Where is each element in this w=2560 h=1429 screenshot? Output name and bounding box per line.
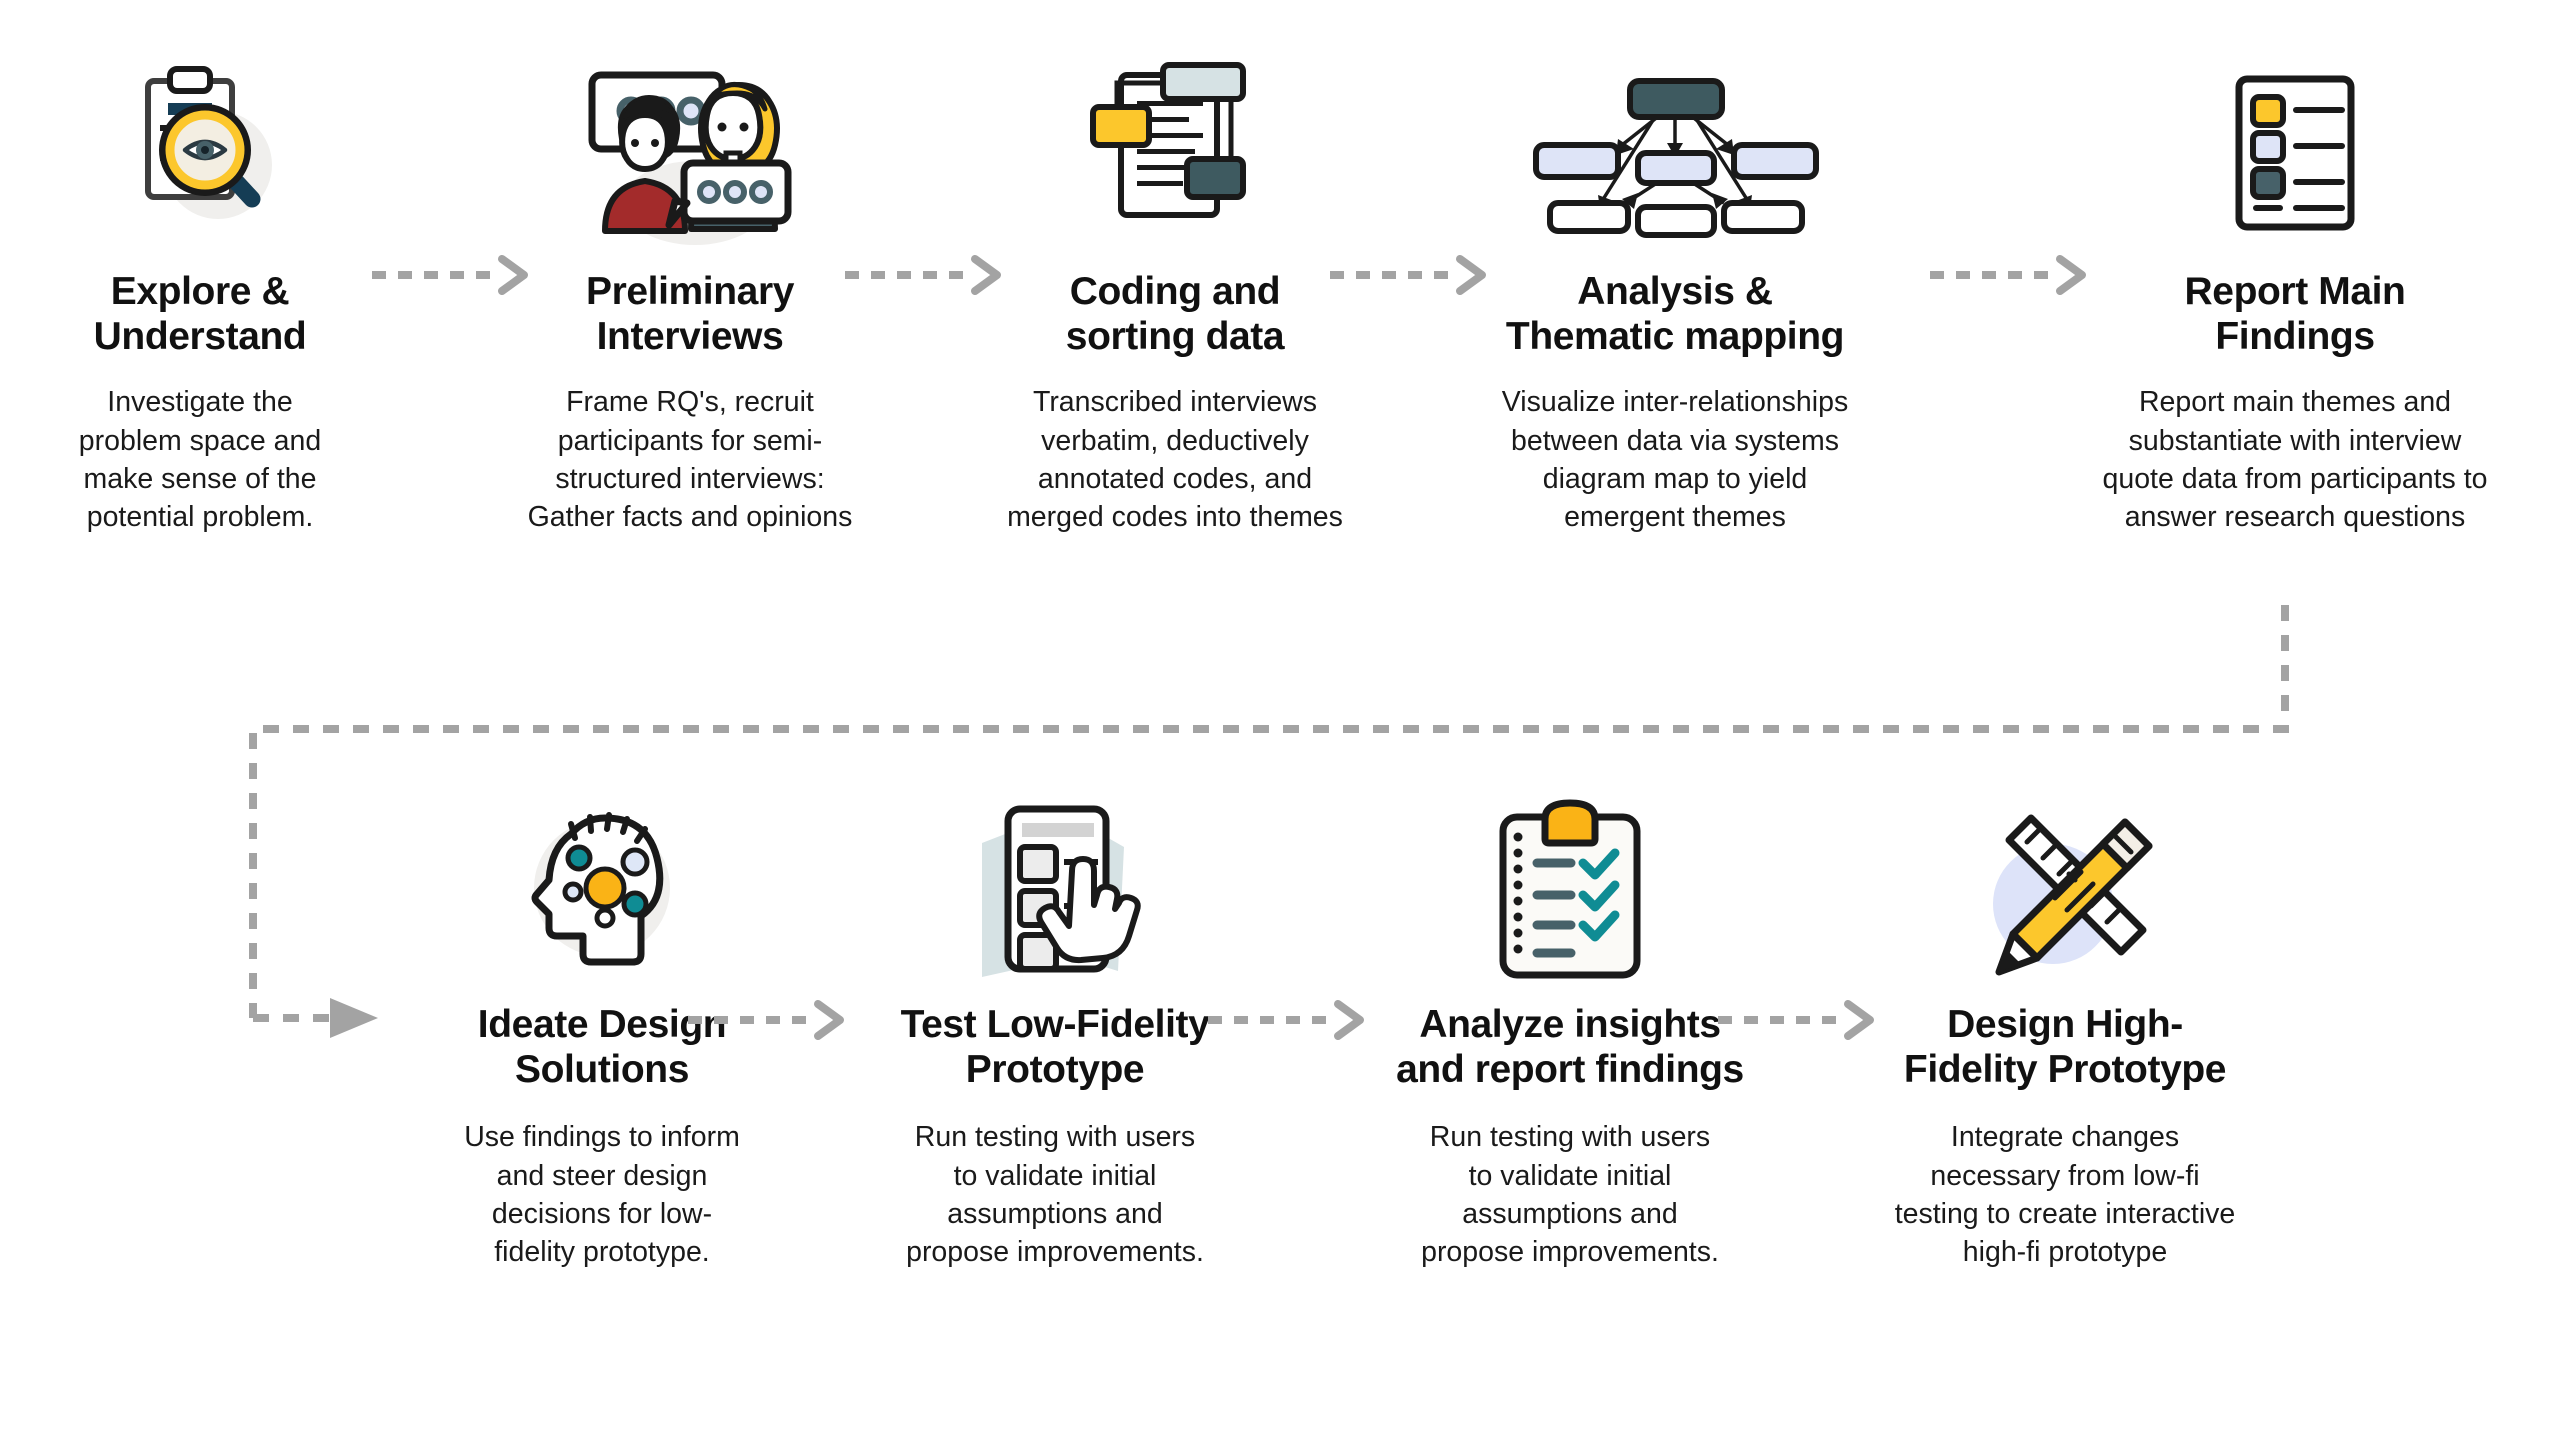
step-preliminary-interviews[interactable]: Preliminary Interviews Frame RQ's, recru…: [490, 28, 890, 536]
node-link-systems-diagram-icon: [1510, 28, 1840, 253]
step-title: Design High- Fidelity Prototype: [1904, 1002, 2226, 1092]
step-test-low-fidelity-prototype[interactable]: Test Low-Fidelity Prototype Run testing …: [840, 790, 1270, 1271]
step-explore-understand[interactable]: Explore & Understand Investigate the pro…: [55, 28, 345, 536]
step-coding-sorting-data[interactable]: Coding and sorting data Transcribed inte…: [975, 28, 1375, 536]
step-report-main-findings[interactable]: Report Main Findings Report main themes …: [2055, 28, 2535, 536]
step-description: Run testing with users to validate initi…: [906, 1118, 1204, 1271]
step-description: Visualize inter-relationships between da…: [1502, 383, 1848, 536]
step-description: Investigate the problem space and make s…: [79, 383, 321, 536]
two-people-speech-bubbles-icon: [583, 28, 798, 253]
pencil-ruler-icon: [1975, 790, 2155, 980]
clipboard-magnifier-eye-icon: [100, 28, 300, 253]
step-title: Explore & Understand: [94, 269, 307, 359]
clipboard-checkmarks-icon: [1485, 790, 1655, 980]
wireframe-hand-tap-icon: [968, 790, 1143, 980]
step-description: Transcribed interviews verbatim, deducti…: [1007, 383, 1343, 536]
arrow-step6-to-step7: [688, 1000, 853, 1040]
step-design-high-fidelity-prototype[interactable]: Design High- Fidelity Prototype Integrat…: [1855, 790, 2275, 1271]
step-title: Analyze insights and report findings: [1396, 1002, 1744, 1092]
step-description: Frame RQ's, recruit participants for sem…: [528, 383, 853, 536]
step-title: Coding and sorting data: [1066, 269, 1284, 359]
head-ideas-brain-icon: [517, 790, 687, 980]
arrow-step7-to-step8: [1208, 1000, 1373, 1040]
step-description: Use findings to inform and steer design …: [464, 1118, 740, 1271]
step-title: Report Main Findings: [2185, 269, 2406, 359]
process-flow-diagram: Explore & Understand Investigate the pro…: [0, 0, 2560, 1429]
step-description: Integrate changes necessary from low-fi …: [1895, 1118, 2236, 1271]
step-analysis-thematic-mapping[interactable]: Analysis & Thematic mapping Visualize in…: [1460, 28, 1890, 536]
step-description: Report main themes and substantiate with…: [2103, 383, 2488, 536]
step-description: Run testing with users to validate initi…: [1421, 1118, 1719, 1271]
step-title: Preliminary Interviews: [586, 269, 794, 359]
step-title: Analysis & Thematic mapping: [1506, 269, 1844, 359]
document-coded-tags-icon: [1075, 28, 1275, 253]
step-title: Test Low-Fidelity Prototype: [901, 1002, 1210, 1092]
report-list-colored-squares-icon: [2195, 28, 2395, 253]
